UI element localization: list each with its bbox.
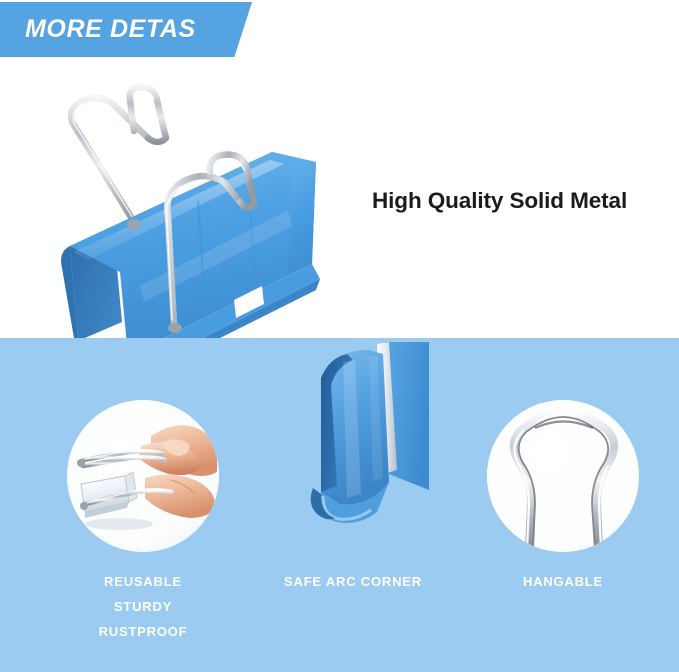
caption-line: STURDY <box>38 594 248 619</box>
caption-line: REUSABLE <box>38 569 248 594</box>
caption-line: RUSTPROOF <box>38 619 248 644</box>
feature-hangable-caption: HANGABLE <box>458 569 668 594</box>
feature-reusable-caption: REUSABLE STURDY RUSTPROOF <box>38 569 248 644</box>
hero-headline: High Quality Solid Metal <box>372 188 627 214</box>
banner-label: MORE DETAS <box>0 15 196 44</box>
handle-socket-right <box>168 323 182 333</box>
feature-arc-photo <box>277 400 429 552</box>
features-section: REUSABLE STURDY RUSTPROOF <box>0 338 679 672</box>
product-infographic: MORE DETAS <box>0 0 679 672</box>
photo-shadow <box>85 518 153 530</box>
circle-mask <box>277 400 429 552</box>
caption-line: SAFE ARC CORNER <box>248 569 458 594</box>
clip-right-fold <box>288 162 316 274</box>
wire-pivot-lower <box>80 502 88 510</box>
feature-reusable-photo <box>67 400 219 552</box>
clip-handle-left-hilite <box>73 92 154 218</box>
wire-pivot-upper <box>77 459 85 467</box>
hero-product-photo <box>48 76 348 338</box>
clip-handle-left <box>71 87 166 222</box>
feature-hangable: HANGABLE <box>458 400 668 594</box>
feature-hangable-photo <box>487 400 639 552</box>
feature-safe-arc-corner: SAFE ARC CORNER <box>248 400 458 594</box>
caption-line: HANGABLE <box>458 569 668 594</box>
handle-socket-left <box>127 219 141 229</box>
more-details-banner: MORE DETAS <box>0 2 252 57</box>
feature-arc-caption: SAFE ARC CORNER <box>248 569 458 594</box>
feature-reusable: REUSABLE STURDY RUSTPROOF <box>38 400 248 644</box>
top-section: MORE DETAS <box>0 0 679 338</box>
